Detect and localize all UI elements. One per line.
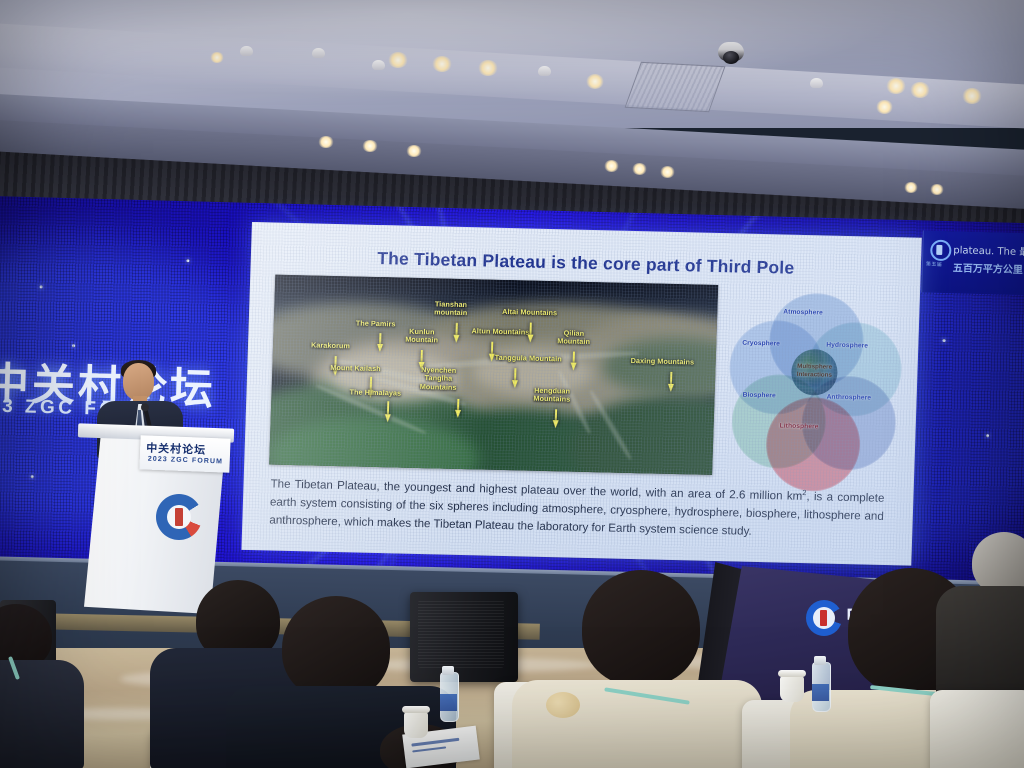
ceiling-downlight xyxy=(604,160,619,172)
ceiling-downlight xyxy=(586,74,604,89)
map-label-arrow-stem xyxy=(491,342,493,354)
tea-cup xyxy=(780,676,804,702)
map-label: Tianshanmountain xyxy=(434,300,468,318)
map-label: NyenchenTanglhaMountains xyxy=(420,366,458,392)
bottle-cap xyxy=(814,656,826,665)
venn-label-biosphere: Biosphere xyxy=(743,392,776,400)
map-label-arrow-icon xyxy=(527,335,533,343)
map-label: Altun Mountains xyxy=(471,327,529,337)
map-label: Mount Kailash xyxy=(330,364,381,374)
six-spheres-venn-diagram: AtmosphereCryosphereHydrosphereBiosphere… xyxy=(726,291,902,473)
smoke-detector-icon xyxy=(810,78,823,88)
tea-cup-lid xyxy=(402,706,430,713)
podium-sign-en: 2023 ZGC FORUM xyxy=(148,456,224,466)
map-label-arrow-stem xyxy=(457,399,459,410)
map-label: Altai Mountains xyxy=(502,308,557,318)
ceiling-downlight xyxy=(876,100,893,114)
audience-body xyxy=(0,660,84,768)
secondary-slide-panel: 第五届 plateau. The 最 五百万平方公里，当然，第三 xyxy=(921,230,1024,295)
bottle-label xyxy=(440,694,457,711)
podium-name-plate: 中关村论坛 2023 ZGC FORUM xyxy=(139,435,230,472)
monitor-zgc-logo-icon xyxy=(806,600,842,636)
map-label: HengduanMountains xyxy=(533,387,570,405)
audience-chair xyxy=(930,690,1024,768)
map-label-arrow-icon xyxy=(488,354,494,362)
map-label: QilianMountain xyxy=(557,329,590,347)
map-label-arrow-stem xyxy=(379,333,381,344)
venn-circle-lithosphere xyxy=(765,396,862,492)
audience-head xyxy=(282,596,390,700)
pa-speaker-cabinet xyxy=(410,592,518,682)
ceiling-downlight xyxy=(318,136,334,148)
ceiling-downlight xyxy=(388,52,408,68)
map-label: Daxing Mountains xyxy=(631,357,695,367)
tea-cup-lid xyxy=(778,670,806,677)
side-slide-line2: 五百万平方公里，当然，第三 xyxy=(953,259,1024,277)
ceiling-downlight xyxy=(478,60,498,76)
audience-head xyxy=(972,532,1024,594)
pa-speaker-grille xyxy=(418,600,504,668)
map-label-arrow-stem xyxy=(387,401,389,414)
map-label-arrow-icon xyxy=(667,384,673,392)
venn-label-lithosphere: Lithosphere xyxy=(780,422,819,430)
map-label: The Pamirs xyxy=(356,319,396,328)
ceiling xyxy=(0,0,1024,128)
map-label-arrow-icon xyxy=(511,380,517,388)
tea-cup xyxy=(404,712,428,738)
map-label: KunlunMountain xyxy=(405,328,438,346)
map-label-arrow-stem xyxy=(421,350,423,362)
ceiling-downlight xyxy=(886,78,906,94)
ceiling-downlight xyxy=(660,166,675,178)
ceiling-downlight xyxy=(910,82,930,98)
map-label-arrow-icon xyxy=(570,363,576,371)
audience-body xyxy=(936,586,1024,706)
venn-label-hydrosphere: Hydrosphere xyxy=(826,342,868,350)
zgc-logo-icon xyxy=(930,240,952,262)
map-label-arrow-stem xyxy=(573,352,575,363)
venn-label-cryosphere: Cryosphere xyxy=(742,340,780,348)
map-label: Tanggula Mountain xyxy=(495,354,562,364)
map-label-arrow-stem xyxy=(555,409,557,420)
air-vent-icon xyxy=(625,62,726,112)
smoke-detector-icon xyxy=(372,60,385,70)
ceiling-downlight xyxy=(210,52,224,63)
smoke-detector-icon xyxy=(312,48,325,58)
ceiling-downlight xyxy=(930,184,944,195)
side-slide-line1: plateau. The 最 xyxy=(953,241,1024,258)
ceiling-downlight xyxy=(962,88,982,104)
map-label-arrow-icon xyxy=(453,335,459,343)
speaker-head xyxy=(123,363,154,400)
map-label: The Himalayas xyxy=(349,388,401,398)
decorative-flower xyxy=(546,692,580,718)
map-label-arrow-icon xyxy=(376,344,382,352)
podium-zgc-logo-icon xyxy=(156,494,202,540)
ceiling-downlight xyxy=(432,56,452,72)
map-label-arrow-icon xyxy=(454,410,460,418)
ceiling-downlight xyxy=(362,140,378,152)
side-slide-logo-caption: 第五届 xyxy=(926,261,942,268)
map-label-arrow-stem xyxy=(514,368,516,380)
venn-circle-layer xyxy=(732,291,902,295)
bottle-cap xyxy=(442,666,454,675)
map-label-arrow-icon xyxy=(384,414,390,422)
ceiling-downlight xyxy=(904,182,918,193)
map-label-arrow-icon xyxy=(552,420,558,428)
bottle-label xyxy=(812,684,829,701)
venn-label-atmosphere: Atmosphere xyxy=(783,309,823,317)
conference-photo-scene: 中关村论坛 23 ZGC FORUM 第五届 plateau. The 最 五百… xyxy=(0,0,1024,768)
ceiling-downlight xyxy=(406,145,422,157)
audience-head xyxy=(582,570,700,686)
map-label-arrow-stem xyxy=(455,323,457,335)
smoke-detector-icon xyxy=(240,46,253,56)
map-label-arrow-stem xyxy=(529,323,531,335)
map-label: Karakorum xyxy=(311,341,350,350)
tibetan-plateau-terrain-map: KarakorumThe PamirsMount KailashThe Hima… xyxy=(269,275,718,475)
map-label-arrow-stem xyxy=(670,372,672,384)
smoke-detector-icon xyxy=(538,66,551,76)
venn-center-label: MultisphereInteractions xyxy=(785,363,844,400)
ceiling-downlight xyxy=(632,163,647,175)
dome-camera-icon xyxy=(718,42,744,61)
presentation-slide: The Tibetan Plateau is the core part of … xyxy=(241,222,921,566)
